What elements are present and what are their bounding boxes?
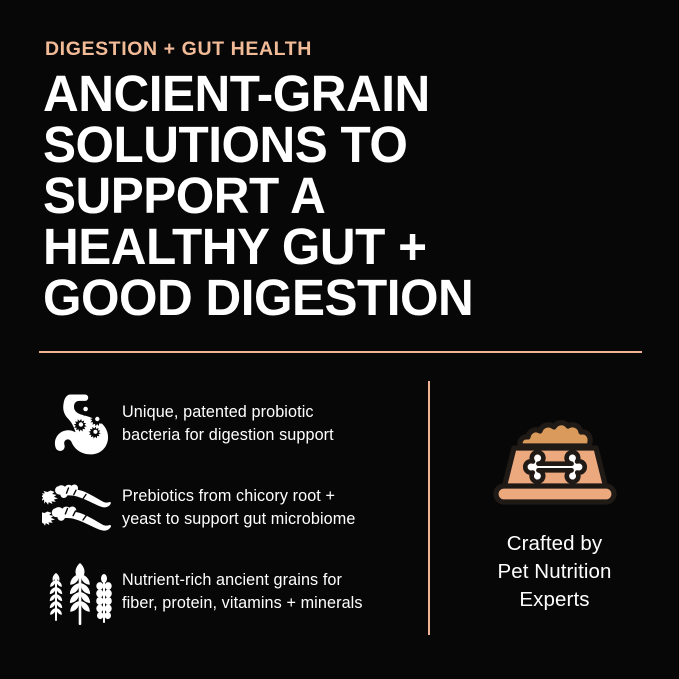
headline-line-2: SOLUTIONS TO <box>43 119 625 170</box>
list-item: Nutrient-rich ancient grains for fiber, … <box>38 556 418 628</box>
headline-line-4: HEALTHY GUT + <box>43 221 625 272</box>
bullet-1-line-1: Unique, patented probiotic <box>122 401 334 424</box>
bullet-3-line-1: Nutrient-rich ancient grains for <box>122 569 363 592</box>
crafted-line-3: Experts <box>497 586 611 614</box>
bullet-2-line-2: yeast to support gut microbiome <box>122 508 355 531</box>
stomach-probiotic-icon <box>38 393 122 455</box>
list-item-text: Nutrient-rich ancient grains for fiber, … <box>122 569 363 615</box>
dog-food-bowl-icon <box>484 412 626 510</box>
list-item: Prebiotics from chicory root + yeast to … <box>38 472 418 544</box>
wheat-grain-icon <box>38 559 122 625</box>
crafted-text: Crafted by Pet Nutrition Experts <box>497 530 611 614</box>
bullet-1-line-2: bacteria for digestion support <box>122 424 334 447</box>
crafted-line-1: Crafted by <box>497 530 611 558</box>
list-item: Unique, patented probiotic bacteria for … <box>38 388 418 460</box>
chicory-root-icon <box>38 482 122 534</box>
headline-line-3: SUPPORT A <box>43 170 625 221</box>
list-item-text: Unique, patented probiotic bacteria for … <box>122 401 334 447</box>
eyebrow-label: DIGESTION + GUT HEALTH <box>45 38 312 61</box>
crafted-badge: Crafted by Pet Nutrition Experts <box>430 388 679 614</box>
bullet-3-line-2: fiber, protein, vitamins + minerals <box>122 592 363 615</box>
feature-list: Unique, patented probiotic bacteria for … <box>38 388 418 628</box>
crafted-line-2: Pet Nutrition <box>497 558 611 586</box>
bullet-2-line-1: Prebiotics from chicory root + <box>122 485 355 508</box>
horizontal-divider <box>39 351 642 353</box>
headline-line-5: GOOD DIGESTION <box>43 272 625 323</box>
list-item-text: Prebiotics from chicory root + yeast to … <box>122 485 355 531</box>
page-title: ANCIENT-GRAIN SOLUTIONS TO SUPPORT A HEA… <box>43 68 625 323</box>
promo-panel: DIGESTION + GUT HEALTH ANCIENT-GRAIN SOL… <box>0 0 679 679</box>
headline-line-1: ANCIENT-GRAIN <box>43 68 625 119</box>
